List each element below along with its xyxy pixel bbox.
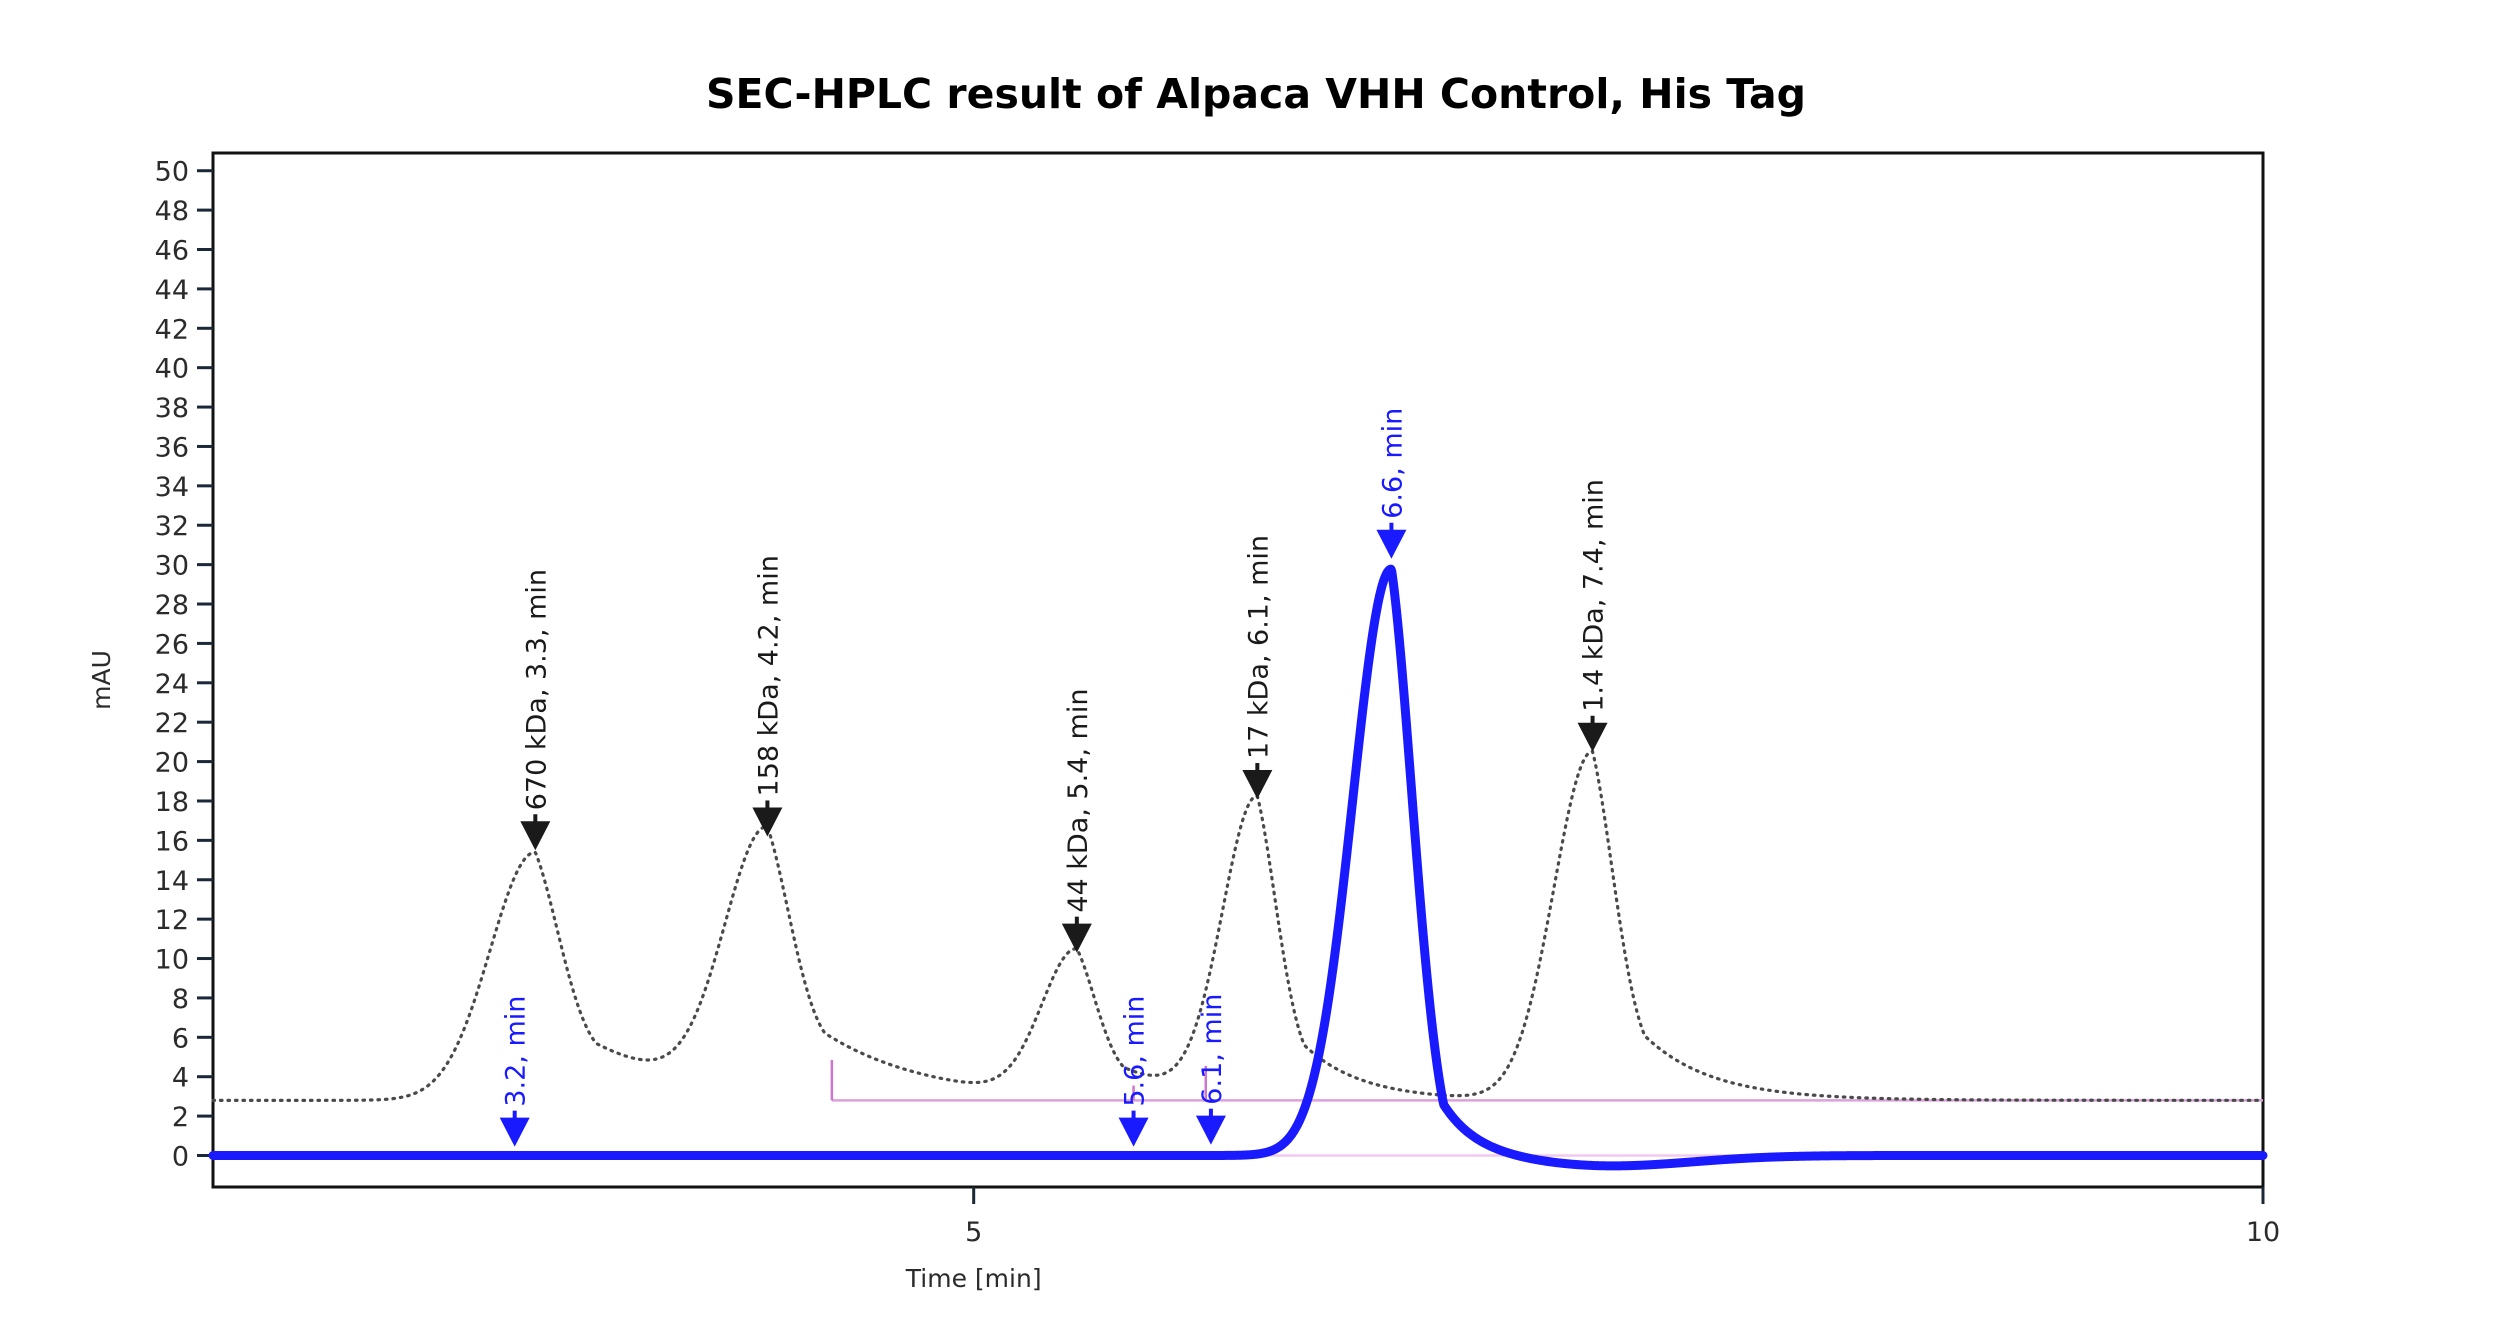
peak-annotation: 158 kDa, 4.2, min [752, 555, 784, 836]
y-tick-label: 26 [155, 629, 189, 660]
y-tick-label: 0 [172, 1141, 189, 1172]
page-title: SEC-HPLC result of Alpaca VHH Control, H… [706, 70, 1806, 118]
sec-hplc-chromatogram-figure: SEC-HPLC result of Alpaca VHH Control, H… [0, 0, 2512, 1318]
y-tick-label: 32 [155, 511, 189, 542]
y-tick-label: 20 [155, 748, 189, 779]
y-tick-label: 6 [172, 1023, 189, 1054]
annotation-label: 17 kDa, 6.1, min [1243, 535, 1274, 759]
x-axis-label: Time [min] [905, 1264, 1042, 1293]
annotation-label: 5.6, min [1120, 996, 1151, 1107]
annotation-label: 158 kDa, 4.2, min [753, 555, 784, 796]
annotation-label: 3.2, min [501, 996, 532, 1107]
y-tick-label: 38 [155, 393, 189, 424]
peak-annotation: 44 kDa, 5.4, min [1062, 689, 1094, 953]
annotation-label: 6.6, min [1377, 408, 1408, 519]
y-tick-label: 36 [155, 432, 189, 463]
y-tick-label: 34 [155, 472, 189, 503]
y-tick-label: 48 [155, 196, 189, 227]
y-axis-label: mAU [87, 650, 116, 710]
y-tick-label: 46 [155, 236, 189, 267]
peak-annotation: 17 kDa, 6.1, min [1242, 535, 1274, 799]
y-tick-label: 10 [155, 945, 189, 976]
annotation-label: 670 kDa, 3.3, min [521, 569, 552, 810]
y-tick-label: 8 [172, 984, 189, 1015]
y-tick-label: 44 [155, 275, 189, 306]
y-tick-label: 28 [155, 590, 189, 621]
y-tick-label: 40 [155, 354, 189, 385]
y-tick-label: 12 [155, 905, 189, 936]
annotation-label: 44 kDa, 5.4, min [1063, 689, 1094, 913]
y-tick-label: 14 [155, 866, 189, 897]
x-tick-label: 5 [965, 1217, 982, 1248]
y-tick-label: 24 [155, 669, 189, 700]
y-tick-label: 30 [155, 551, 189, 582]
y-tick-label: 16 [155, 826, 189, 857]
y-tick-label: 2 [172, 1102, 189, 1133]
x-tick-label: 10 [2246, 1217, 2280, 1248]
y-tick-label: 22 [155, 708, 189, 739]
peak-annotation: 670 kDa, 3.3, min [520, 569, 552, 850]
y-tick-label: 4 [172, 1063, 189, 1094]
annotation-label: 6.1, min [1197, 994, 1228, 1105]
peak-annotation: 1.4 kDa, 7.4, min [1578, 479, 1610, 752]
y-tick-label: 42 [155, 314, 189, 345]
y-tick-label: 50 [155, 157, 189, 188]
annotation-label: 1.4 kDa, 7.4, min [1579, 479, 1610, 712]
y-tick-label: 18 [155, 787, 189, 818]
